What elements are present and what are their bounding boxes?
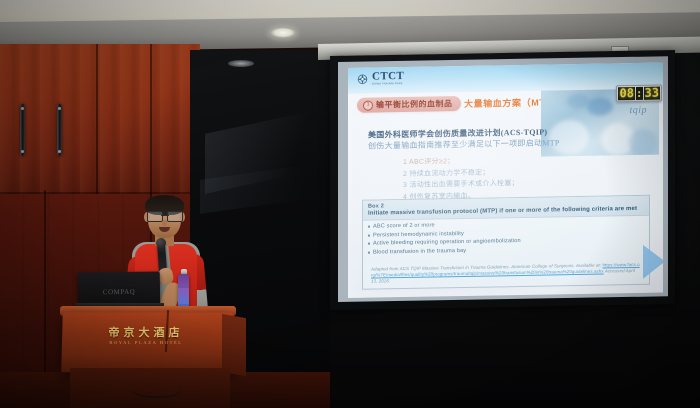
presenter-nose [162, 220, 167, 226]
chip-number-badge: 3 [363, 100, 373, 110]
venue-sign: 帝京大酒店 ROYAL PLAZA HOTEL [92, 328, 200, 346]
ceiling-spotlight [270, 28, 296, 38]
photo-blur-shape [567, 94, 589, 108]
timer-seconds: 33 [644, 87, 660, 100]
tqip-watermark: tqip [629, 105, 647, 116]
timer-minutes: 08 [618, 87, 634, 100]
venue-name-chinese: 帝京大酒店 [92, 328, 200, 339]
wood-panel-doors [0, 44, 200, 194]
panel-seam [44, 190, 46, 374]
box2-panel: Box 2 Initiate massive transfusion proto… [362, 195, 650, 290]
list-item: Blood transfusion in the trauma bay [373, 244, 643, 255]
compass-emblem-icon [356, 72, 369, 85]
section-chip: 3 输平衡比例的血制品 [357, 96, 461, 113]
presentation-room-photo: CTCT CHINA TRAUMA CARE 3 输平衡比例的血制品 大量输血方… [0, 0, 700, 408]
box2-criteria-list: ABC score of 2 or more Persistent hemody… [363, 216, 649, 255]
chip-label: 输平衡比例的血制品 [376, 98, 453, 110]
ctct-logo: CTCT CHINA TRAUMA CARE [356, 71, 404, 86]
bottle-label [178, 288, 189, 304]
glasses-lens [167, 211, 183, 222]
ctct-logo-text: CTCT [372, 71, 404, 83]
floor-cable [132, 374, 182, 398]
presentation-slide: CTCT CHINA TRAUMA CARE 3 输平衡比例的血制品 大量输血方… [348, 63, 663, 298]
panel-seam [96, 44, 98, 194]
microphone-head [156, 238, 167, 249]
criteria-list-chinese: 1 ABC评分≥2； 2 持续血流动力学不稳定； 3 活动性出血需要手术或介入栓… [403, 154, 583, 202]
ctct-logo-subtitle: CHINA TRAUMA CARE [372, 83, 404, 86]
glasses-lens [147, 211, 163, 222]
presenter-glasses [147, 211, 183, 220]
box2-citation: Adapted from ACS TQIP Massive Transfusio… [371, 262, 641, 285]
panel-seam [0, 192, 190, 194]
photo-blur-shape [629, 129, 657, 157]
glasses-bridge [161, 215, 169, 216]
countdown-timer: 08 : 33 [616, 85, 662, 103]
door-handle[interactable] [20, 104, 25, 156]
dark-wall-below-screen [330, 300, 700, 408]
blue-triangle-arrow-icon [643, 244, 663, 278]
timer-separator: : [636, 87, 643, 100]
podium-side-panel [222, 314, 246, 376]
door-handle[interactable] [57, 104, 62, 156]
laptop-brand-logo: COMPAQ [103, 288, 135, 296]
venue-name-english: ROYAL PLAZA HOTEL [92, 341, 200, 346]
photo-blur-shape [587, 97, 613, 115]
glass-reflection-light [228, 60, 254, 67]
laptop[interactable]: COMPAQ [78, 271, 160, 306]
